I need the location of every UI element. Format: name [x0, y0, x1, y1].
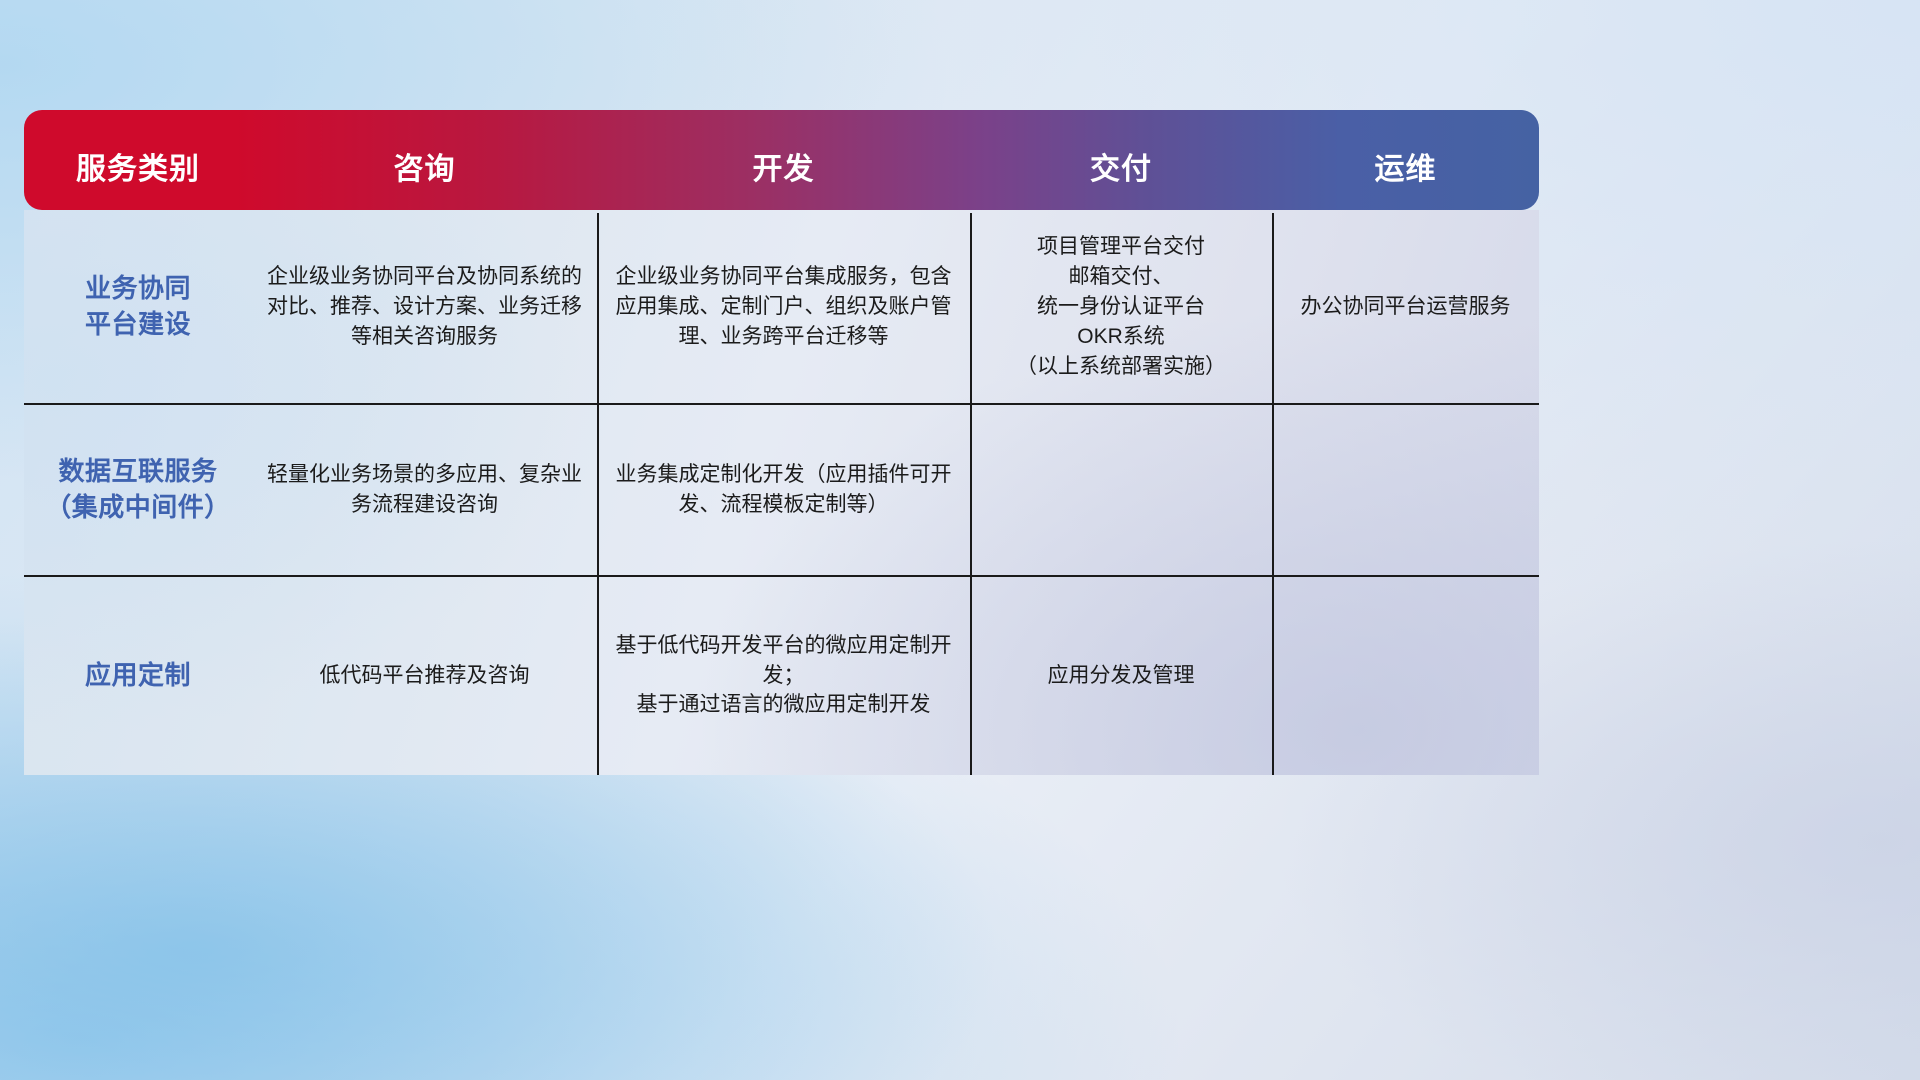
column-header-consulting: 咨询	[252, 144, 597, 210]
cell-operations: 办公协同平台运营服务	[1272, 210, 1539, 404]
row-divider	[24, 575, 1539, 577]
table-header-row: 服务类别 咨询 开发 交付 运维	[24, 110, 1539, 210]
row-category-label: 数据互联服务 （集成中间件）	[24, 404, 252, 576]
cell-development: 企业级业务协同平台集成服务，包含应用集成、定制门户、组织及账户管理、业务跨平台迁…	[597, 210, 970, 404]
column-header-operations: 运维	[1272, 144, 1539, 210]
column-divider	[970, 213, 972, 775]
row-category-label: 业务协同 平台建设	[24, 210, 252, 404]
table-row: 数据互联服务 （集成中间件） 轻量化业务场景的多应用、复杂业务流程建设咨询 业务…	[24, 404, 1539, 576]
row-category-label: 应用定制	[24, 576, 252, 775]
cell-consulting: 低代码平台推荐及咨询	[252, 576, 597, 775]
cell-development: 基于低代码开发平台的微应用定制开发； 基于通过语言的微应用定制开发	[597, 576, 970, 775]
table-row: 应用定制 低代码平台推荐及咨询 基于低代码开发平台的微应用定制开发； 基于通过语…	[24, 576, 1539, 775]
cell-operations	[1272, 576, 1539, 775]
cell-consulting: 企业级业务协同平台及协同系统的对比、推荐、设计方案、业务迁移等相关咨询服务	[252, 210, 597, 404]
table-row: 业务协同 平台建设 企业级业务协同平台及协同系统的对比、推荐、设计方案、业务迁移…	[24, 210, 1539, 404]
service-matrix-table: 服务类别 咨询 开发 交付 运维 业务协同 平台建设 企业级业务协同平台及协同系…	[24, 110, 1539, 775]
column-divider	[597, 213, 599, 775]
cell-delivery: 应用分发及管理	[970, 576, 1272, 775]
column-divider	[1272, 213, 1274, 775]
cell-delivery: 项目管理平台交付 邮箱交付、 统一身份认证平台 OKR系统 （以上系统部署实施）	[970, 210, 1272, 404]
column-header-development: 开发	[597, 144, 970, 210]
column-header-delivery: 交付	[970, 144, 1272, 210]
cell-operations	[1272, 404, 1539, 576]
cell-development: 业务集成定制化开发（应用插件可开发、流程模板定制等）	[597, 404, 970, 576]
column-header-category: 服务类别	[24, 144, 252, 210]
row-divider	[24, 403, 1539, 405]
cell-consulting: 轻量化业务场景的多应用、复杂业务流程建设咨询	[252, 404, 597, 576]
cell-delivery	[970, 404, 1272, 576]
